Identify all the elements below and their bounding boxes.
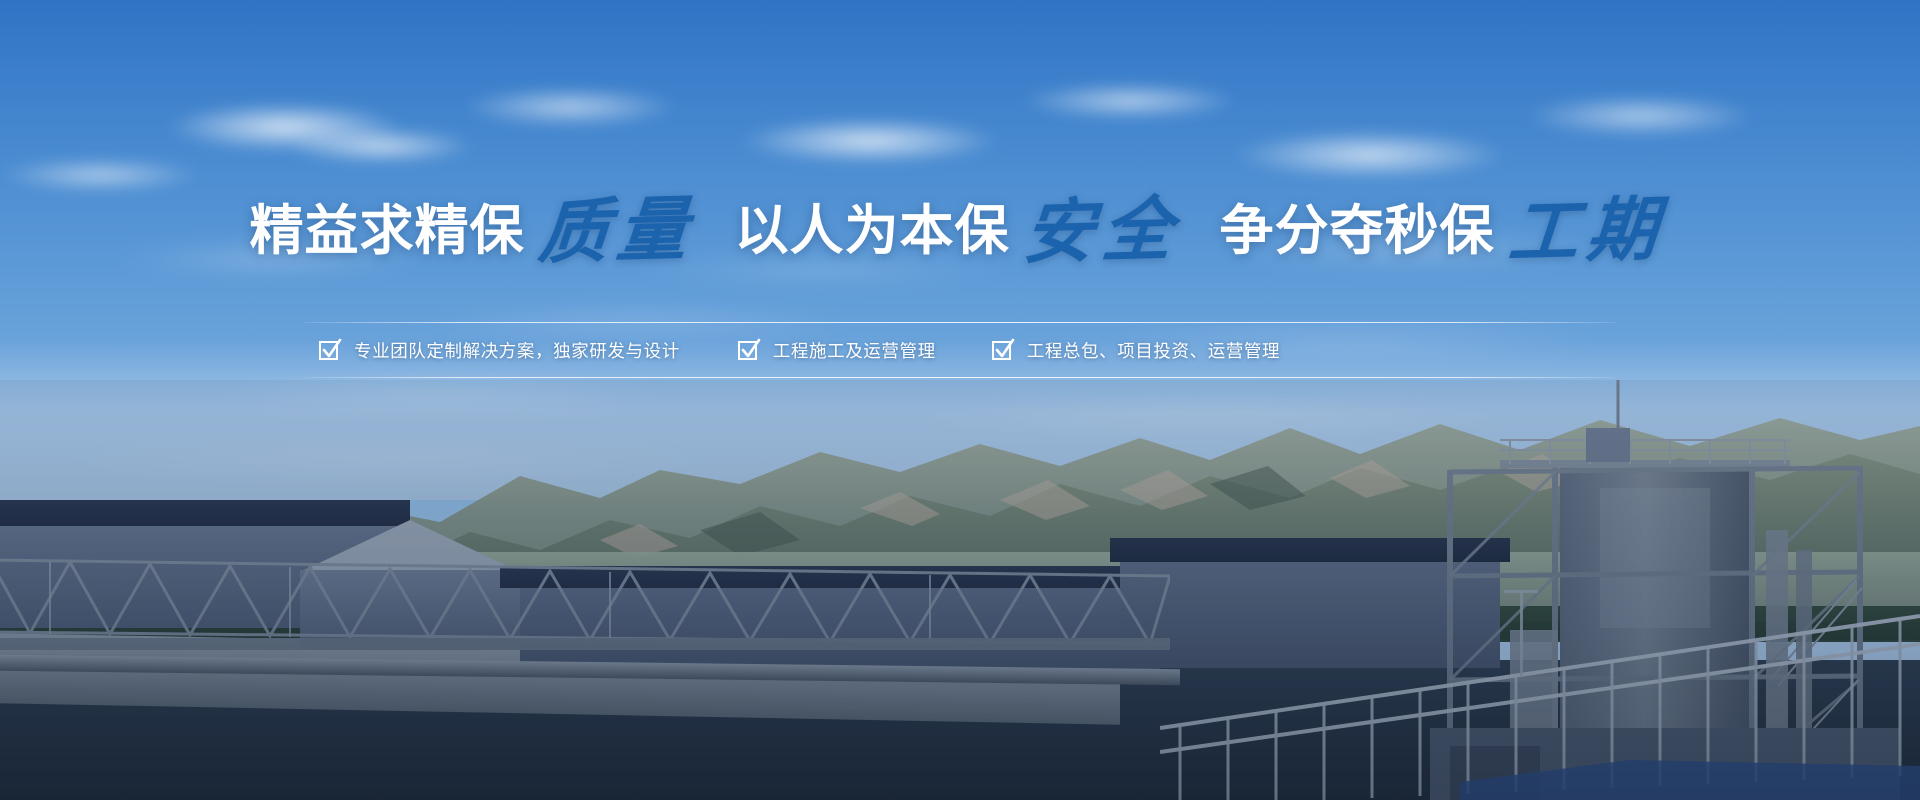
slogan-plain-1: 精益求精保 [250, 204, 525, 258]
feature-item-3[interactable]: 工程总包、项目投资、运营管理 [992, 338, 1280, 363]
feature-label-1: 专业团队定制解决方案，独家研发与设计 [354, 338, 680, 363]
hero-banner: 精益求精保 质量 以人为本保 安全 争分夺秒保 工期 [0, 0, 1920, 800]
divider-bottom [305, 377, 1615, 378]
checkbox-checked-icon [738, 341, 757, 360]
feature-row: 专业团队定制解决方案，独家研发与设计 工程施工及运营管理 [305, 323, 1615, 377]
headline-slogan: 精益求精保 质量 以人为本保 安全 争分夺秒保 工期 [0, 196, 1920, 266]
feature-label-3: 工程总包、项目投资、运营管理 [1027, 338, 1280, 363]
feature-item-1[interactable]: 专业团队定制解决方案，独家研发与设计 [319, 338, 680, 363]
slogan-plain-3: 争分夺秒保 [1220, 204, 1495, 258]
slogan-accent-2: 安全 [1007, 194, 1189, 269]
checkbox-checked-icon [992, 341, 1011, 360]
feature-item-2[interactable]: 工程施工及运营管理 [738, 338, 936, 363]
feature-label-2: 工程施工及运营管理 [773, 338, 936, 363]
checkbox-checked-icon [319, 341, 338, 360]
slogan-accent-1: 质量 [522, 194, 704, 269]
banner-content: 精益求精保 质量 以人为本保 安全 争分夺秒保 工期 [0, 0, 1920, 480]
slogan-segment-3: 争分夺秒保 工期 [1220, 196, 1671, 266]
slogan-segment-1: 精益求精保 质量 [250, 196, 701, 266]
feature-strip: 专业团队定制解决方案，独家研发与设计 工程施工及运营管理 [305, 322, 1615, 378]
slogan-segment-2: 以人为本保 安全 [735, 196, 1186, 266]
slogan-accent-3: 工期 [1492, 194, 1674, 269]
slogan-plain-2: 以人为本保 [735, 204, 1010, 258]
